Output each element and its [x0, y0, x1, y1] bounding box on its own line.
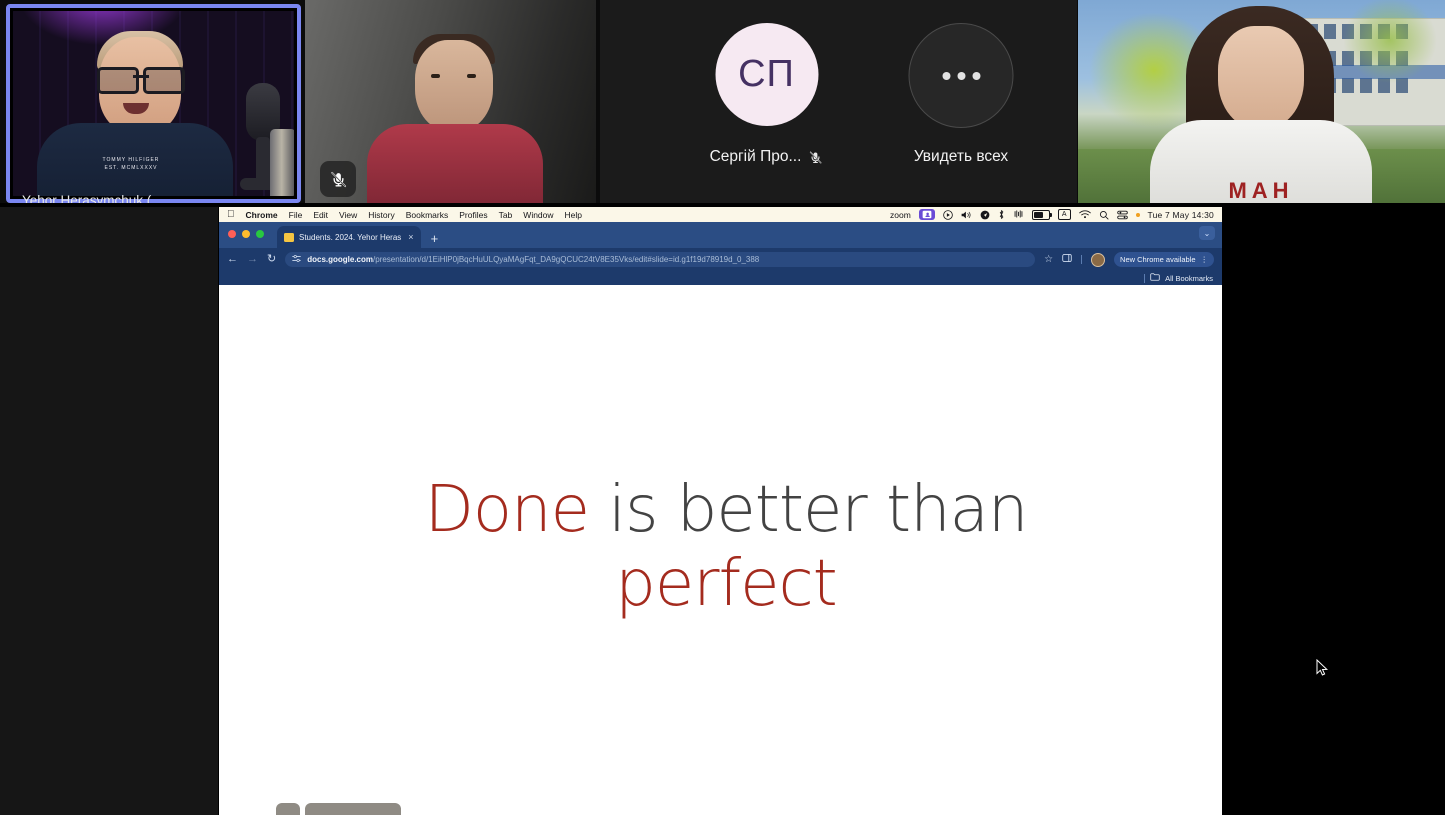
menu-view[interactable]: View: [339, 210, 357, 220]
tumbler-cup: [270, 129, 294, 196]
address-bar[interactable]: docs.google.com/presentation/d/1EiHlP0jB…: [285, 252, 1035, 267]
hoodie-brand-text: TOMMY HILFIGER: [95, 157, 167, 163]
menu-bar-clock[interactable]: Tue 7 May 14:30: [1148, 210, 1214, 220]
menu-file[interactable]: File: [289, 210, 303, 220]
avatar: СП: [715, 23, 818, 126]
zoom-status-label[interactable]: zoom: [890, 210, 911, 220]
close-tab-button[interactable]: ×: [408, 232, 413, 242]
bluetooth-icon[interactable]: [998, 209, 1005, 220]
profile-avatar-icon[interactable]: [1091, 253, 1105, 267]
glasses-icon: [97, 67, 185, 88]
close-window-button[interactable]: [228, 230, 236, 238]
all-bookmarks-label[interactable]: All Bookmarks: [1165, 274, 1213, 283]
slide-title-text: Done is better than perfect: [230, 473, 1222, 621]
slide-word-done: Done: [425, 473, 589, 547]
see-all-label: Увидеть всех: [914, 148, 1008, 166]
location-arrow-icon[interactable]: [980, 210, 990, 220]
participant-3-name: Сергій Про...: [710, 148, 802, 166]
browser-tab-title: Students. 2024. Yehor Heras: [299, 233, 401, 242]
folder-icon: [1150, 273, 1160, 283]
prev-slide-button[interactable]: [276, 803, 300, 815]
update-chrome-label: New Chrome available: [1120, 255, 1195, 264]
back-button[interactable]: ←: [227, 254, 238, 265]
macos-menu-bar[interactable]:  Chrome File Edit View History Bookmark…: [219, 207, 1222, 222]
shared-screen-window[interactable]:  Chrome File Edit View History Bookmark…: [219, 207, 1222, 815]
ellipsis-icon[interactable]: [909, 23, 1014, 128]
browser-menu-button[interactable]: ⋮: [1201, 255, 1209, 264]
stage-backdrop-left: [0, 207, 219, 815]
slide-word-perfect: perfect: [615, 547, 837, 621]
see-all-label-wrap: Увидеть всех: [845, 148, 1077, 166]
microphone-stand: [256, 137, 270, 183]
toolbar-divider: [1081, 255, 1082, 264]
browser-toolbar[interactable]: ← → ↻ docs.google.com/presentation/d/1Ei…: [219, 248, 1222, 271]
background-tree-right: [1325, 0, 1445, 100]
participant-1-video: TOMMY HILFIGER EST. MCMLXXXV: [13, 11, 294, 196]
search-icon[interactable]: [1099, 210, 1109, 220]
participant-2-torso: [367, 124, 543, 207]
screen-share-icon[interactable]: [919, 209, 935, 220]
menu-profiles[interactable]: Profiles: [459, 210, 487, 220]
url-path: /presentation/d/1EiHlP0jBqcHuULQyaMAgFqt…: [373, 255, 759, 264]
participant-2-head: [415, 40, 493, 132]
chevron-down-icon[interactable]: ⌄: [1199, 226, 1215, 240]
mouse-cursor: [1316, 659, 1328, 676]
menu-bar-status-items: zoom A: [890, 209, 1214, 220]
participant-5-shirt: MAH: [1150, 120, 1372, 207]
apple-logo-icon[interactable]: : [227, 210, 235, 220]
menu-bookmarks[interactable]: Bookmarks: [406, 210, 449, 220]
stage-backdrop-right: [1222, 207, 1445, 815]
menu-edit[interactable]: Edit: [313, 210, 328, 220]
participant-1-hoodie-logo: TOMMY HILFIGER EST. MCMLXXXV: [95, 157, 167, 183]
bookmark-star-icon[interactable]: ☆: [1044, 254, 1053, 265]
participant-5-face: [1218, 26, 1304, 130]
see-all-participants-tile[interactable]: Увидеть всех: [845, 0, 1077, 207]
participant-2-eye-left: [431, 74, 440, 78]
participant-tile-1[interactable]: TOMMY HILFIGER EST. MCMLXXXV: [6, 4, 301, 203]
participant-5-video: MAH: [1078, 0, 1445, 207]
presentation-controls[interactable]: [276, 803, 401, 815]
slides-favicon: [284, 233, 294, 242]
window-traffic-lights[interactable]: [228, 230, 264, 238]
address-bar-url: docs.google.com/presentation/d/1EiHlP0jB…: [307, 255, 759, 264]
bookmarks-divider: [1144, 274, 1145, 283]
url-host: docs.google.com: [307, 255, 373, 264]
forward-button[interactable]: →: [247, 254, 258, 265]
browser-tab-strip[interactable]: Students. 2024. Yehor Heras × + ⌄: [219, 222, 1222, 248]
airdrop-icon[interactable]: [1013, 210, 1024, 220]
menu-history[interactable]: History: [368, 210, 394, 220]
wifi-icon[interactable]: [1079, 210, 1091, 219]
menu-help[interactable]: Help: [565, 210, 582, 220]
avatar-initials: СП: [738, 53, 795, 96]
hoodie-est-text: EST. MCMLXXXV: [95, 165, 167, 171]
slide-canvas[interactable]: Done is better than perfect: [230, 301, 1222, 815]
record-icon[interactable]: [943, 210, 953, 220]
bookmarks-bar[interactable]: All Bookmarks: [219, 271, 1222, 285]
slide-phrase-is-better-than: is better than: [589, 473, 1027, 547]
zoom-window-button[interactable]: [256, 230, 264, 238]
participant-tile-5[interactable]: MAH: [1078, 0, 1445, 207]
microphone-muted-icon: [808, 150, 823, 165]
minimize-window-button[interactable]: [242, 230, 250, 238]
slide-progress-button[interactable]: [305, 803, 401, 815]
microphone-muted-icon: [329, 170, 348, 189]
notification-dot: [1136, 213, 1140, 217]
side-panel-icon[interactable]: [1062, 253, 1072, 266]
menu-chrome[interactable]: Chrome: [246, 210, 278, 220]
video-participant-strip: TOMMY HILFIGER EST. MCMLXXXV: [0, 0, 1445, 207]
tune-icon[interactable]: [292, 254, 301, 265]
browser-tab[interactable]: Students. 2024. Yehor Heras ×: [277, 226, 421, 248]
menu-tab[interactable]: Tab: [499, 210, 513, 220]
control-center-icon[interactable]: [1117, 210, 1128, 220]
menu-window[interactable]: Window: [523, 210, 553, 220]
volume-icon[interactable]: [961, 210, 972, 220]
new-tab-button[interactable]: +: [431, 232, 439, 245]
reload-button[interactable]: ↻: [267, 254, 276, 265]
shirt-text: MAH: [1150, 178, 1372, 204]
input-source-icon[interactable]: A: [1058, 209, 1071, 220]
participant-tile-2[interactable]: [305, 0, 596, 207]
participant-2-eye-right: [467, 74, 476, 78]
update-chrome-button[interactable]: New Chrome available ⋮: [1114, 252, 1214, 267]
participant-2-mute-badge: [320, 161, 356, 197]
battery-icon[interactable]: [1032, 210, 1050, 220]
